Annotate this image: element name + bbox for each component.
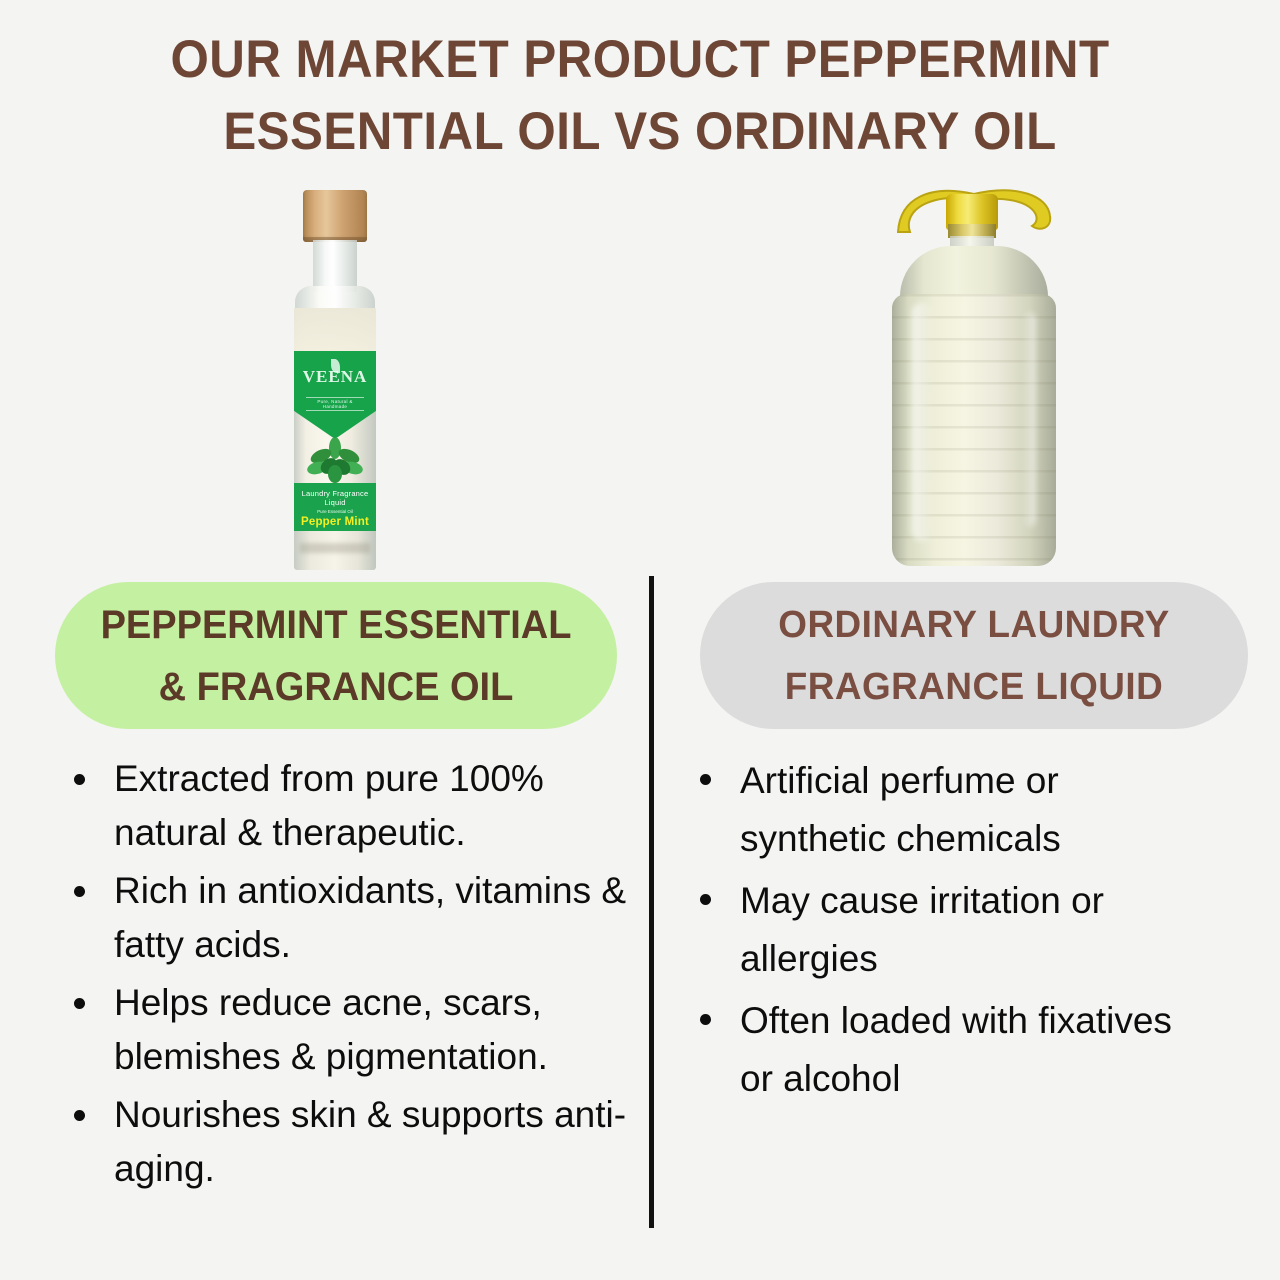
ordinary-heading-line-2: FRAGRANCE LIQUID: [708, 656, 1240, 718]
bottle-label-line-3: Pepper Mint: [294, 516, 376, 528]
bottle-base: [294, 531, 376, 570]
peppermint-column-heading: PEPPERMINT ESSENTIAL & FRAGRANCE OIL: [55, 582, 617, 729]
ordinary-liquid-can-image: [884, 172, 1064, 570]
column-divider: [649, 576, 654, 1228]
peppermint-heading-line-1: PEPPERMINT ESSENTIAL: [69, 594, 603, 656]
list-item: Often loaded with fixatives or alcohol: [688, 992, 1208, 1108]
peppermint-oil-bottle-image: VEENA Pure, Natural & Handmade Laundry F…: [281, 190, 389, 570]
peppermint-benefit-list: Extracted from pure 100% natural & thera…: [62, 752, 640, 1200]
brand-name: VEENA: [294, 367, 376, 387]
brand-tagline: Pure, Natural & Handmade: [306, 397, 364, 411]
bottle-neck: [313, 240, 357, 292]
page-title-line-2: ESSENTIAL OIL VS ORDINARY OIL: [45, 96, 1235, 168]
page-title: OUR MARKET PRODUCT PEPPERMINT ESSENTIAL …: [0, 24, 1280, 168]
can-highlight-left: [912, 302, 934, 542]
page-title-line-1: OUR MARKET PRODUCT PEPPERMINT: [45, 24, 1235, 96]
list-item: Artificial perfume or synthetic chemical…: [688, 752, 1208, 868]
ordinary-drawback-list: Artificial perfume or synthetic chemical…: [688, 752, 1208, 1112]
list-item: Rich in antioxidants, vitamins & fatty a…: [62, 864, 640, 972]
bottle-wooden-cap-icon: [303, 190, 367, 242]
list-item: Nourishes skin & supports anti-aging.: [62, 1088, 640, 1196]
bottle-label-line-2: Pure Essential Oil: [294, 509, 376, 514]
bottle-product-label: Laundry Fragrance Liquid Pure Essential …: [294, 483, 376, 531]
list-item: May cause irritation or allergies: [688, 872, 1208, 988]
list-item: Helps reduce acne, scars, blemishes & pi…: [62, 976, 640, 1084]
ordinary-column-heading: ORDINARY LAUNDRY FRAGRANCE LIQUID: [700, 582, 1248, 729]
peppermint-heading-line-2: & FRAGRANCE OIL: [69, 656, 603, 718]
can-highlight-right: [1022, 312, 1036, 527]
ordinary-heading-line-1: ORDINARY LAUNDRY: [708, 594, 1240, 656]
list-item: Extracted from pure 100% natural & thera…: [62, 752, 640, 860]
product-image-row: VEENA Pure, Natural & Handmade Laundry F…: [0, 170, 1280, 575]
bottle-label-line-1: Laundry Fragrance Liquid: [294, 489, 376, 507]
bottle-liquid: [294, 308, 376, 358]
mint-leaves-icon: [299, 438, 371, 484]
